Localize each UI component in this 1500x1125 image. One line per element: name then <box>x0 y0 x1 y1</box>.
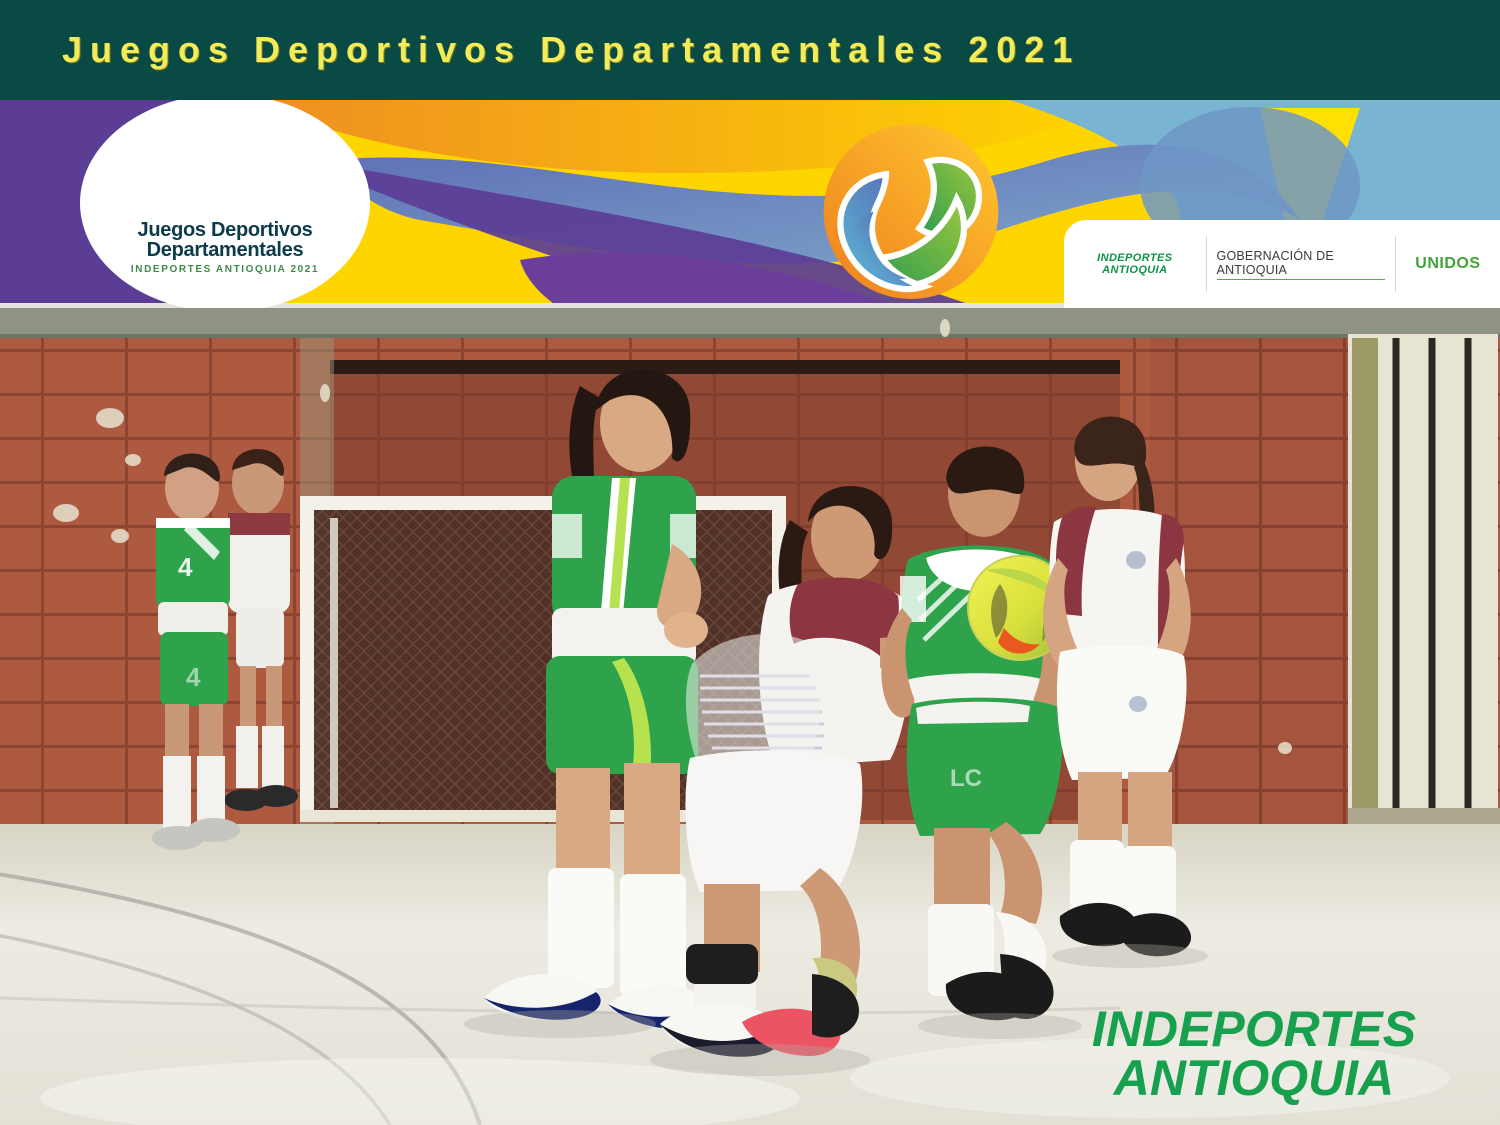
match-photo: 4 4 <box>0 308 1500 1125</box>
title-bar: Juegos Deportivos Departamentales 2021 <box>0 0 1500 100</box>
event-logo: Juegos Deportivos Departamentales INDEPO… <box>80 100 370 308</box>
svg-text:4: 4 <box>178 552 193 582</box>
svg-text:4: 4 <box>186 662 201 692</box>
indeportes-runner-rings-icon <box>1054 999 1500 1125</box>
event-logo-mark <box>161 116 289 216</box>
svg-text:LC: LC <box>950 765 982 792</box>
sponsor-unidos: UNIDOS <box>1396 233 1500 295</box>
poster-root: Juegos Deportivos Departamentales 2021 <box>0 0 1500 1125</box>
page-title: Juegos Deportivos Departamentales 2021 <box>0 29 1080 71</box>
sponsor-panel: INDEPORTES ANTIOQUIA GOBERNACIÓN DE ANTI… <box>1064 220 1500 308</box>
unidos-heart-leaf-icon <box>1064 220 1500 308</box>
indeportes-overlay-logo: INDEPORTES ANTIOQUIA <box>1054 999 1454 1103</box>
event-banner: Juegos Deportivos Departamentales INDEPO… <box>0 100 1500 308</box>
